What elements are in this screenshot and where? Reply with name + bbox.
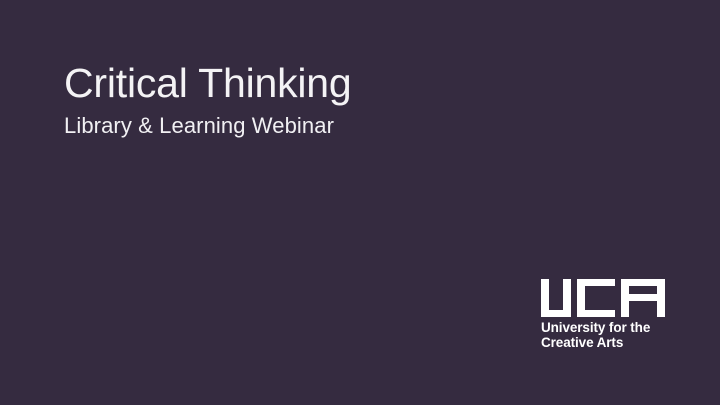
title-block: Critical Thinking Library & Learning Web… [64,58,624,141]
uca-logo-icon [541,279,665,317]
slide-title: Critical Thinking [64,58,624,108]
tagline-line-1: University for the [541,320,650,335]
uca-logo-tagline: University for the Creative Arts [541,321,667,350]
uca-logo-lockup: University for the Creative Arts [541,279,667,350]
tagline-line-2: Creative Arts [541,336,667,351]
slide-subtitle: Library & Learning Webinar [64,111,624,141]
title-slide: Critical Thinking Library & Learning Web… [0,0,720,405]
